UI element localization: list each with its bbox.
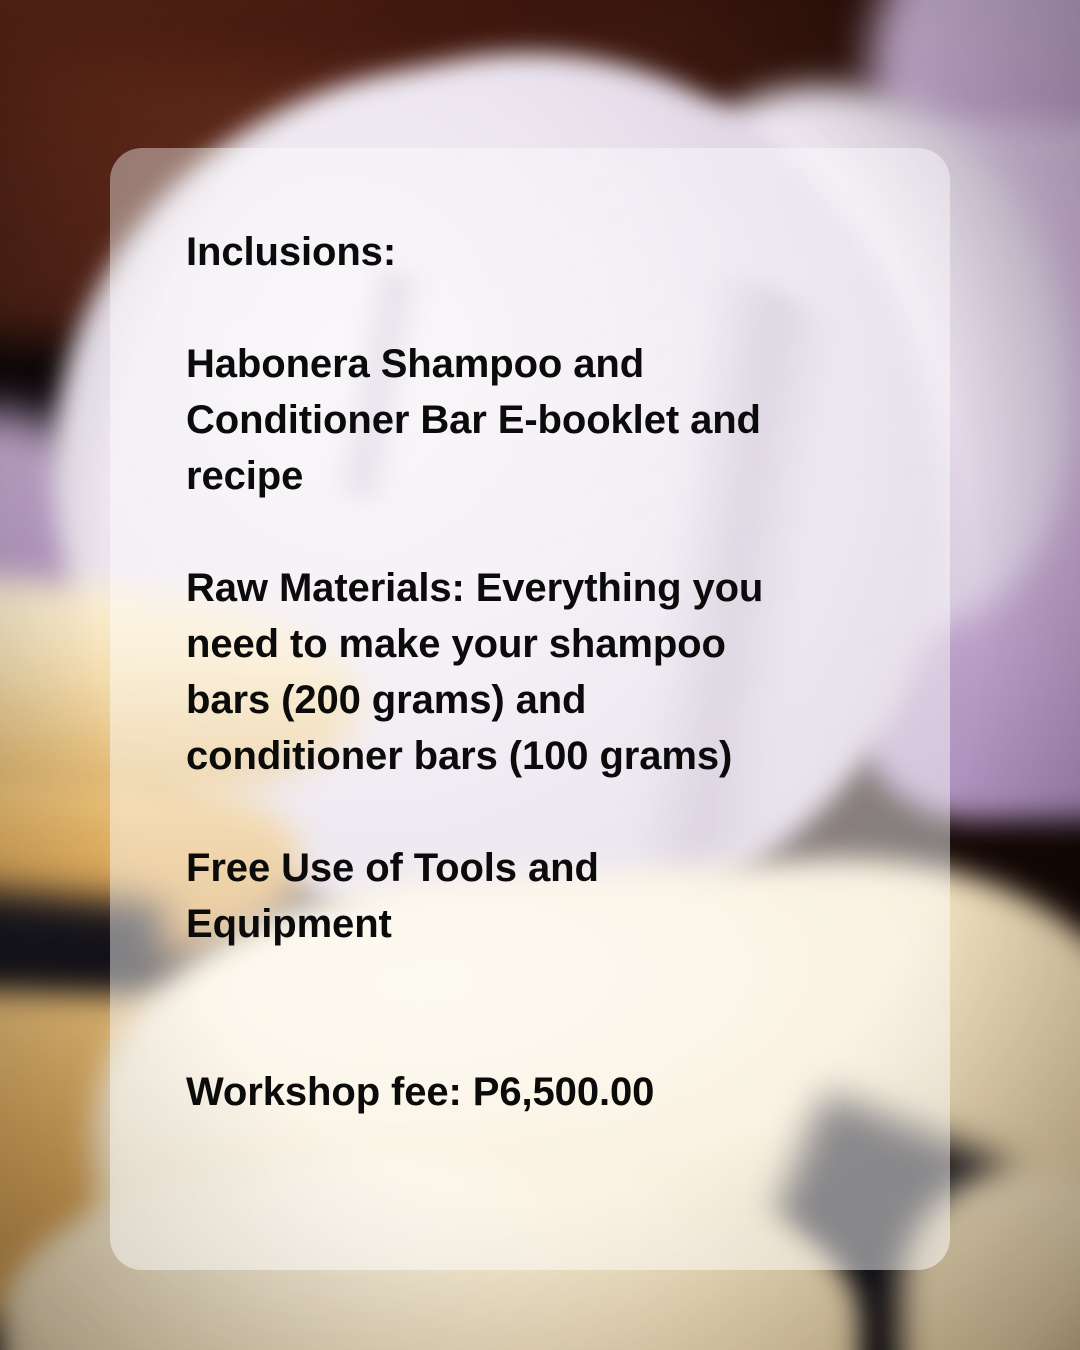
inclusion-item-tools: Free Use of Tools and Equipment bbox=[186, 840, 890, 952]
spacer bbox=[186, 952, 890, 1064]
workshop-fee-line: Workshop fee: P6,500.00 bbox=[186, 1064, 890, 1120]
poster-canvas: Inclusions: Habonera Shampoo and Conditi… bbox=[0, 0, 1080, 1350]
inclusion-item-raw-materials: Raw Materials: Everything you need to ma… bbox=[186, 560, 890, 784]
inclusion-item-ebooklet: Habonera Shampoo and Conditioner Bar E-b… bbox=[186, 336, 890, 504]
spacer bbox=[186, 784, 890, 840]
spacer bbox=[186, 504, 890, 560]
spacer bbox=[186, 280, 890, 336]
card-heading: Inclusions: bbox=[186, 224, 890, 280]
inclusions-card: Inclusions: Habonera Shampoo and Conditi… bbox=[110, 148, 950, 1270]
